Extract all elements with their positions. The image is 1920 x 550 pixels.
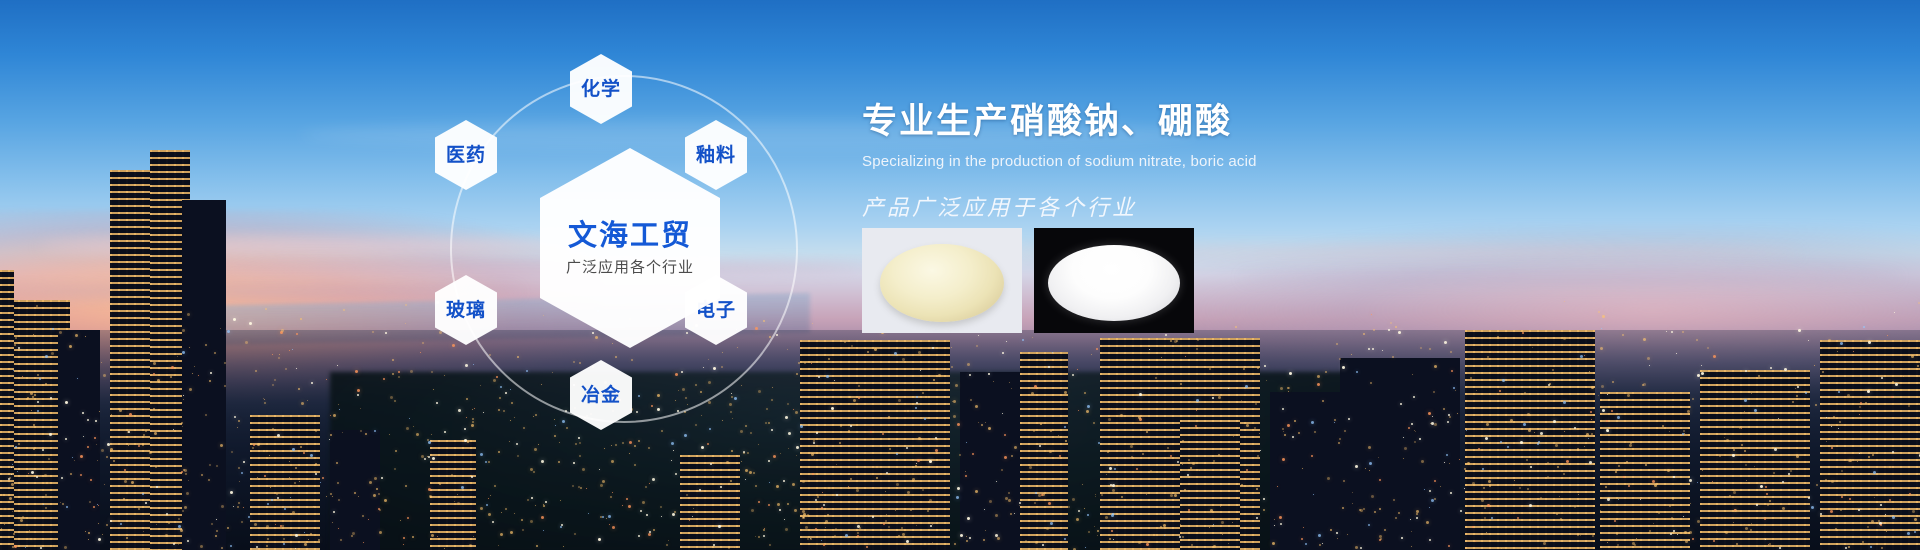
- tagline: 产品广泛应用于各个行业: [862, 190, 1482, 222]
- hex-node-label: 医药: [446, 146, 486, 165]
- promotional-banner: 化学 釉料 电子 冶金 玻璃 医药 文海工贸 广泛应用各个行业 专业生产硝酸钠、…: [0, 0, 1920, 550]
- headline: 专业生产硝酸钠、硼酸: [862, 100, 1482, 144]
- hexagon-diagram: 化学 釉料 电子 冶金 玻璃 医药 文海工贸 广泛应用各个行业: [420, 20, 840, 530]
- subheadline: Specializing in the production of sodium…: [862, 153, 1482, 170]
- headline-block: 专业生产硝酸钠、硼酸 Specializing in the productio…: [862, 100, 1482, 222]
- hex-node-label: 玻璃: [446, 301, 486, 320]
- hex-node-label: 釉料: [696, 146, 736, 165]
- powder-pile-pale-yellow: [880, 244, 1004, 322]
- product-photo-sodium-nitrate[interactable]: [1034, 228, 1194, 333]
- company-tagline: 广泛应用各个行业: [566, 260, 694, 275]
- powder-pile-white: [1048, 245, 1180, 321]
- hex-node-label: 化学: [581, 80, 621, 99]
- company-name: 文海工贸: [568, 222, 692, 251]
- product-photo-boric-acid[interactable]: [862, 228, 1022, 333]
- hex-node-label: 冶金: [581, 386, 621, 405]
- product-photo-group: [862, 228, 1194, 333]
